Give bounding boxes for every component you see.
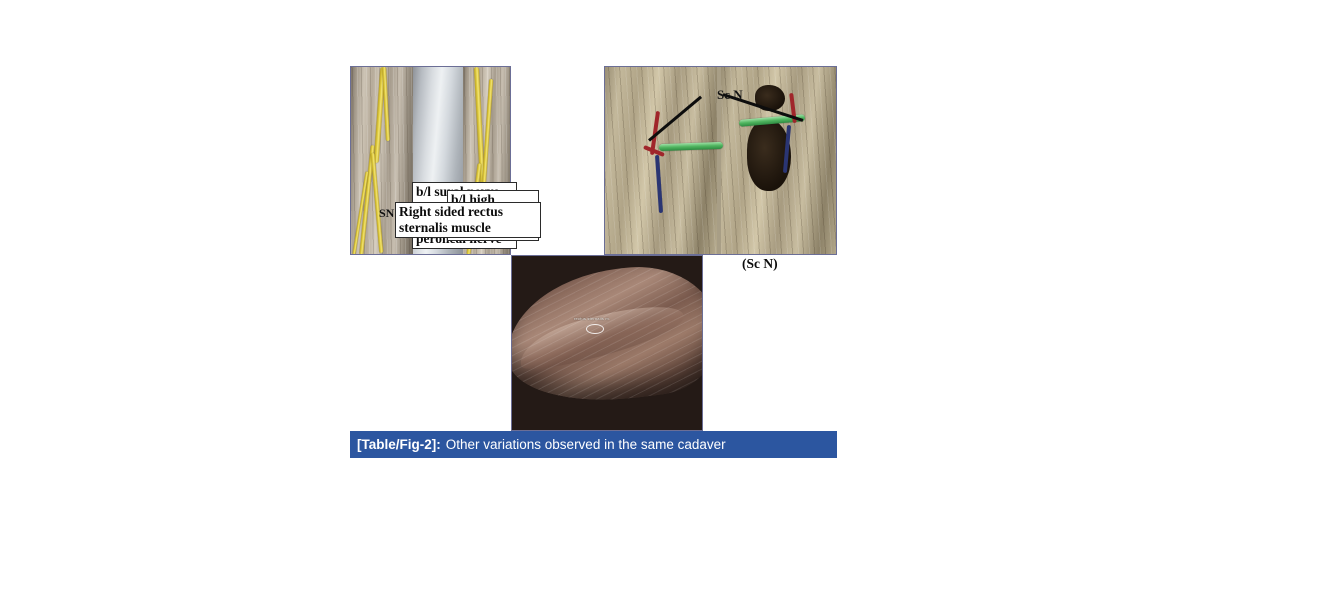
label-sn-left: SN [379,206,394,221]
thoracic-wall-dissection [511,258,703,413]
label-sciatic-nerve-abbrev: (Sc N) [742,256,778,272]
rectus-sternalis-muscle [514,293,688,378]
caption-box-rectus-sternalis: Right sided rectus sternalis muscle [395,202,541,238]
figure-image-canvas: SN SN Sc N [350,66,837,431]
annotation-pointer-icon [586,324,604,334]
figure-caption-label: [Table/Fig-2]: [357,437,441,452]
figure-block: SN SN Sc N [350,66,837,458]
panel-sciatic-nerve: Sc N [604,66,837,255]
muscle-annotation-label: rectus sternalis m. [574,316,610,321]
figure-caption-bar: [Table/Fig-2]: Other variations observed… [350,431,837,458]
label-sciatic-nerve: Sc N [717,87,743,103]
panel-rectus-sternalis: rectus sternalis m. [511,255,703,431]
figure-caption-text: Other variations observed in the same ca… [446,437,726,452]
